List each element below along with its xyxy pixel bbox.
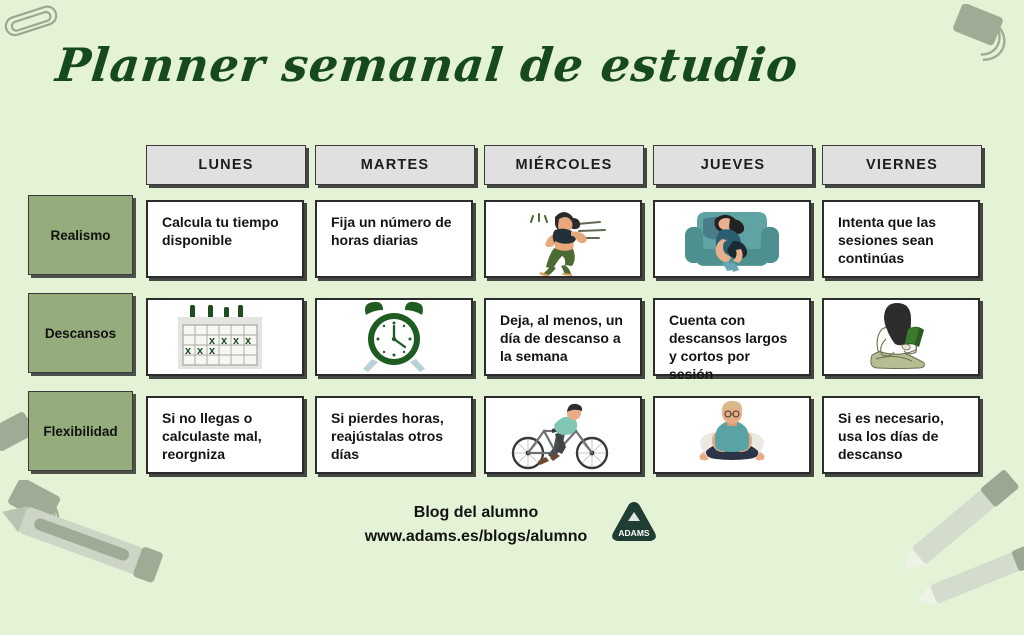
svg-text:x: x [245,335,252,347]
cell-realismo-martes: Fija un número de horas diarias [315,200,473,278]
cell-flexibilidad-jueves [653,396,811,474]
woman-reading-book-illustration [846,301,956,373]
svg-text:x: x [209,345,216,357]
cell-text: Cuenta con descansos largos y cortos por… [669,312,795,384]
cell-descansos-lunes: x x x x x x x [146,298,304,376]
cell-descansos-miercoles: Deja, al menos, un día de descanso a la … [484,298,642,376]
footer: Blog del alumno www.adams.es/blogs/alumn… [0,500,1024,549]
footer-line-url[interactable]: www.adams.es/blogs/alumno [365,525,588,548]
row-header-label: Flexibilidad [43,424,117,439]
column-header-lunes: LUNES [146,145,306,185]
cell-realismo-lunes: Calcula tu tiempo disponible [146,200,304,278]
woman-resting-on-armchair-illustration [677,203,787,275]
column-header-viernes: VIERNES [822,145,982,185]
row-header-flexibilidad: Flexibilidad [28,391,133,471]
cell-text: Si es necesario, usa los días de descans… [838,410,964,464]
page-title: Planner semanal de estudio [53,38,801,92]
alarm-clock-illustration [354,301,434,373]
cell-flexibilidad-miercoles [484,396,642,474]
row-header-label: Realismo [50,228,110,243]
cell-text: Si no llegas o calculaste mal, reorgniza [162,410,288,464]
planner-canvas: Planner semanal de estudio LUNES MARTES … [0,0,1024,576]
column-header-label: JUEVES [701,157,765,173]
column-header-jueves: JUEVES [653,145,813,185]
adams-logo-label: ADAMS [619,528,650,538]
cell-realismo-miercoles [484,200,642,278]
column-header-label: VIERNES [866,157,938,173]
row-header-descansos: Descansos [28,293,133,373]
column-header-label: MIÉRCOLES [516,157,613,173]
column-header-label: MARTES [361,157,429,173]
cell-descansos-jueves: Cuenta con descansos largos y cortos por… [653,298,811,376]
planner-grid: LUNES MARTES MIÉRCOLES JUEVES VIERNES Re… [28,145,996,480]
svg-text:x: x [185,345,192,357]
cell-text: Deja, al menos, un día de descanso a la … [500,312,626,366]
cell-flexibilidad-lunes: Si no llegas o calculaste mal, reorgniza [146,396,304,474]
svg-text:x: x [197,345,204,357]
cell-descansos-viernes [822,298,980,376]
cyclist-illustration [504,399,622,471]
cell-text: Si pierdes horas, reajústalas otros días [331,410,457,464]
calendar-with-x-marks-illustration: x x x x x x x [166,301,284,373]
cell-realismo-viernes: Intenta que las sesiones sean continúas [822,200,980,278]
cell-text: Fija un número de horas diarias [331,214,457,250]
footer-line-blog: Blog del alumno [365,501,588,524]
column-header-martes: MARTES [315,145,475,185]
cell-text: Intenta que las sesiones sean continúas [838,214,964,268]
cell-realismo-jueves [653,200,811,278]
column-header-label: LUNES [198,157,253,173]
row-header-realismo: Realismo [28,195,133,275]
paper-clip-icon [0,0,66,55]
svg-text:x: x [221,335,228,347]
adams-logo: ADAMS [609,500,659,549]
footer-text: Blog del alumno www.adams.es/blogs/alumn… [365,501,588,547]
cell-text: Calcula tu tiempo disponible [162,214,288,250]
row-header-label: Descansos [45,326,116,341]
binder-clip-icon [940,4,1024,83]
svg-text:x: x [233,335,240,347]
man-sitting-cross-legged-illustration [684,399,780,471]
cell-flexibilidad-viernes: Si es necesario, usa los días de descans… [822,396,980,474]
cell-descansos-martes [315,298,473,376]
column-header-miercoles: MIÉRCOLES [484,145,644,185]
running-woman-illustration [503,202,623,276]
cell-flexibilidad-martes: Si pierdes horas, reajústalas otros días [315,396,473,474]
